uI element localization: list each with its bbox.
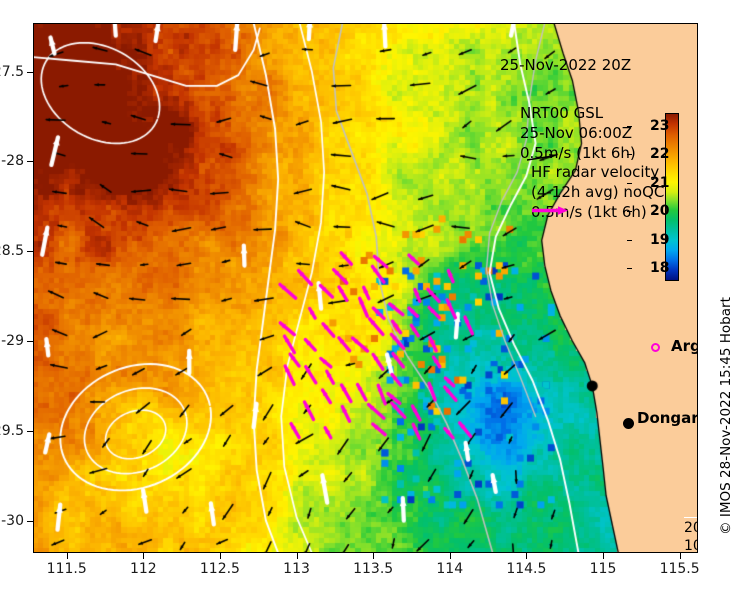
hf-radar-legend-line-1: HF radar velocity [531, 162, 664, 182]
colorbar-tick-label: 19 [650, 232, 669, 248]
title-date: 25-Nov-2022 20Z [500, 56, 631, 74]
x-tick-label: 114 [436, 561, 463, 577]
x-tick [373, 553, 374, 559]
colorbar-tick [627, 240, 632, 241]
y-tick [27, 161, 33, 162]
colorbar-tick [627, 183, 632, 184]
x-tick-label: 113.5 [353, 561, 393, 577]
colorbar-tick-label: 23 [650, 118, 669, 134]
y-tick [27, 341, 33, 342]
200m-isobath-key-line [684, 517, 698, 518]
x-tick-label: 112 [130, 561, 157, 577]
x-tick-label: 112.5 [200, 561, 240, 577]
dongara-marker-icon [623, 418, 634, 429]
satellite-legend-line-2: 25-Nov 06:00Z [520, 123, 636, 143]
x-tick [220, 553, 221, 559]
y-tick-label: -30 [1, 513, 24, 529]
1000m-depth-label: 1000m [684, 538, 698, 553]
y-tick-label: -27.5 [0, 64, 24, 80]
y-tick [27, 431, 33, 432]
x-tick-label: 114.5 [506, 561, 546, 577]
y-tick-label: -28 [1, 153, 24, 169]
colorbar-tick-label: 18 [650, 260, 669, 276]
imos-sst-map-figure: 25-Nov-2022 20Z NRT00 GSL 25-Nov 06:00Z … [0, 0, 740, 592]
colorbar-tick [627, 268, 632, 269]
argo-marker-icon [651, 343, 660, 352]
colorbar-tick-label: 20 [650, 203, 669, 219]
x-tick [680, 553, 681, 559]
x-tick-label: 111.5 [47, 561, 87, 577]
x-tick-label: 113 [283, 561, 310, 577]
x-tick [67, 553, 68, 559]
colorbar-tick-label: 22 [650, 146, 669, 162]
x-tick [526, 553, 527, 559]
y-tick [27, 251, 33, 252]
dongara-city-label: Dongara [637, 409, 698, 427]
y-tick-label: -29.5 [0, 423, 24, 439]
x-tick [450, 553, 451, 559]
colorbar-tick [627, 154, 632, 155]
x-tick [297, 553, 298, 559]
argo-legend-label: Argo [671, 337, 698, 355]
colorbar-gradient [665, 113, 679, 281]
map-plot-area[interactable]: 25-Nov-2022 20Z NRT00 GSL 25-Nov 06:00Z … [33, 23, 698, 553]
x-tick-label: 115.5 [660, 561, 700, 577]
x-tick [143, 553, 144, 559]
x-tick [603, 553, 604, 559]
colorbar-tick-label: 21 [650, 175, 669, 191]
hf-radar-legend-line-2: (4-12h avg) noQC [531, 182, 664, 202]
colorbar-tick [627, 211, 632, 212]
y-tick [27, 521, 33, 522]
colorbar-tick [627, 126, 632, 127]
satellite-legend-line-1: NRT00 GSL [520, 103, 636, 123]
200m-depth-label: 200m [684, 520, 698, 536]
imos-credit-text: © IMOS 28-Nov-2022 15:45 Hobart [718, 297, 734, 535]
x-tick-label: 115 [590, 561, 617, 577]
hf-radar-velocity-key-arrow-icon [532, 206, 568, 215]
y-tick-label: -28.5 [0, 243, 24, 259]
y-tick-label: -29 [1, 333, 24, 349]
y-tick [27, 72, 33, 73]
